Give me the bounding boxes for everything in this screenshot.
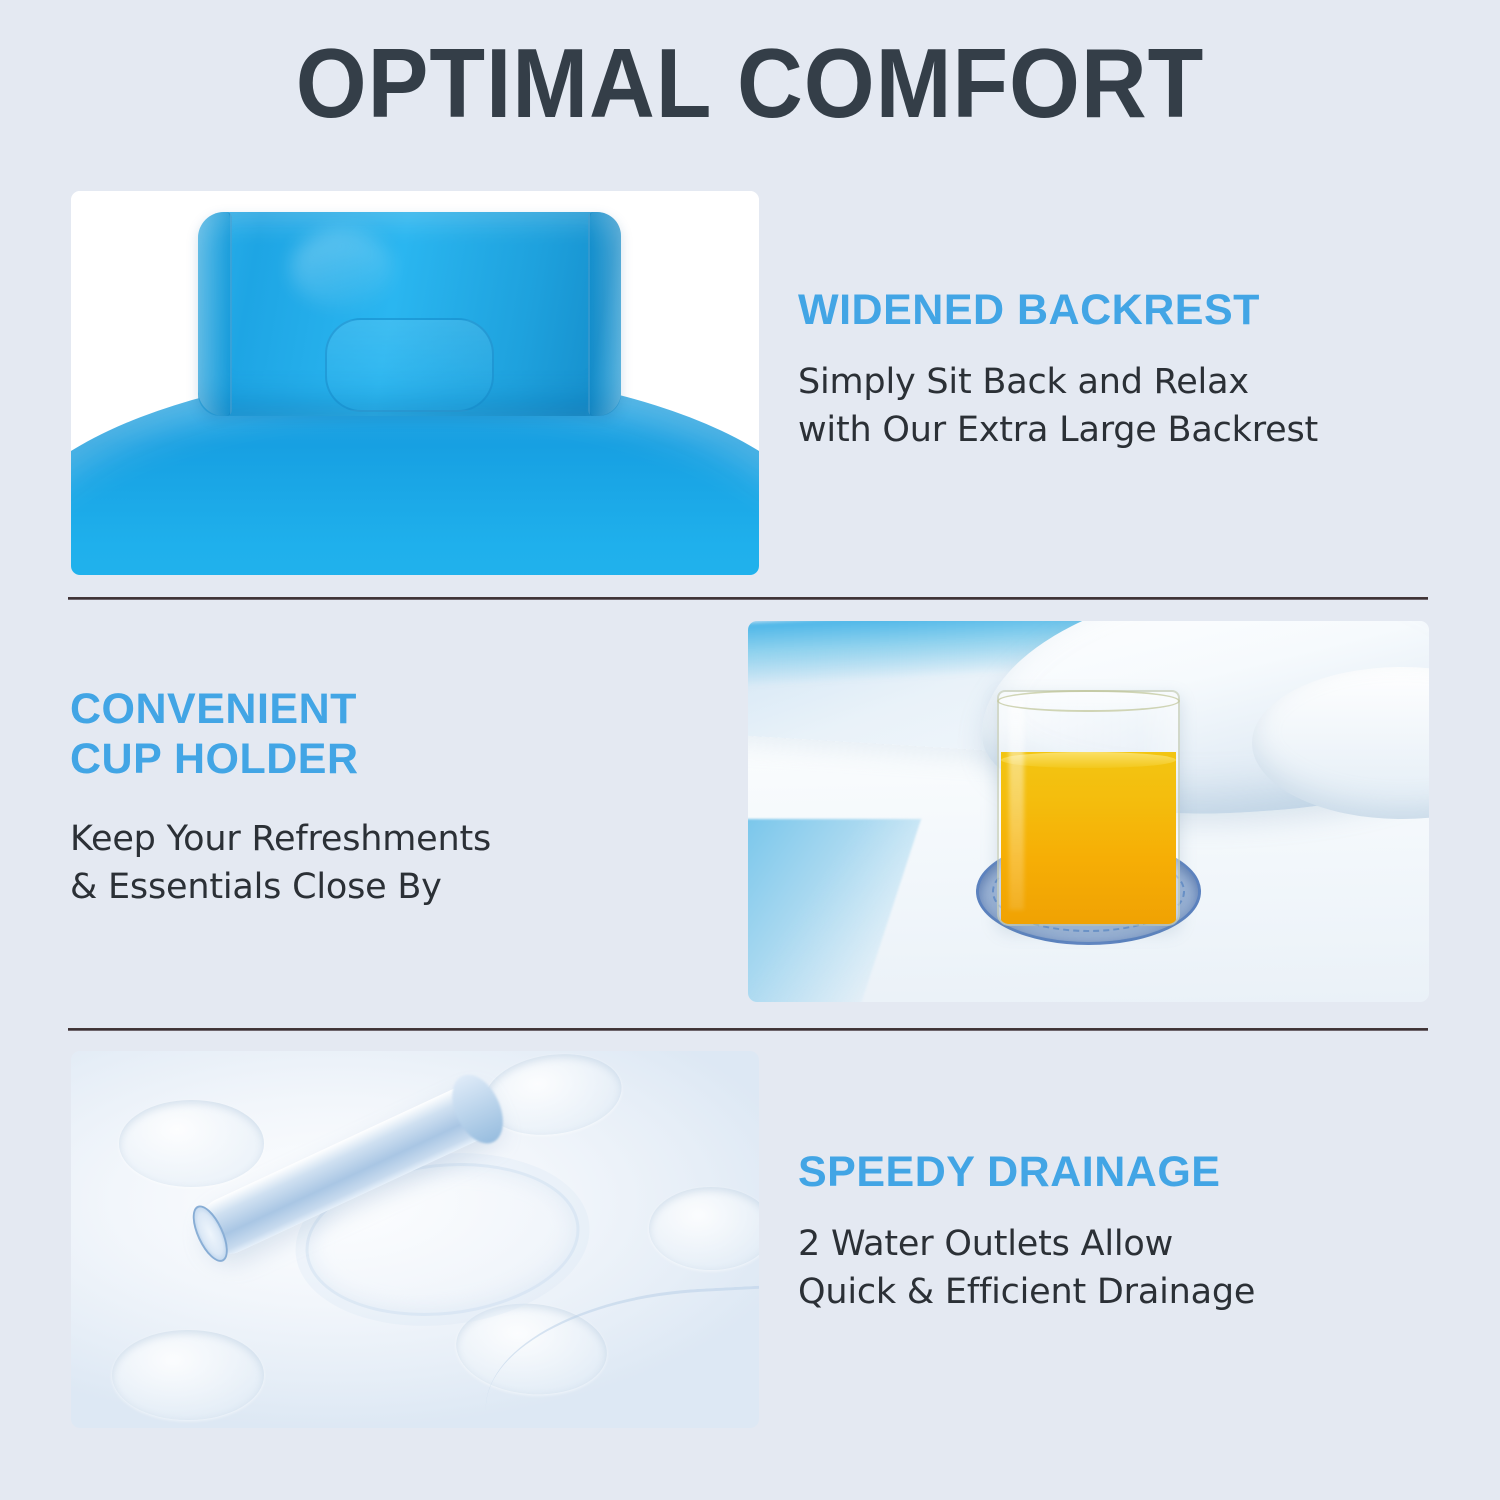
juice-glass xyxy=(997,690,1181,926)
glass-highlight xyxy=(1009,701,1023,910)
feature-image-speedy-drainage xyxy=(71,1051,759,1428)
feature-text-convenient-cup-holder: CONVENIENT CUP HOLDER Keep Your Refreshm… xyxy=(70,685,690,911)
feature-text-widened-backrest: WIDENED BACKREST Simply Sit Back and Rel… xyxy=(798,286,1418,454)
pillow-highlight xyxy=(291,230,393,307)
feature-body-speedy-drainage: 2 Water Outlets Allow Quick & Efficient … xyxy=(798,1220,1418,1317)
feature-text-speedy-drainage: SPEEDY DRAINAGE 2 Water Outlets Allow Qu… xyxy=(798,1148,1418,1316)
surface-dimple xyxy=(112,1330,263,1420)
inflatable-pillow xyxy=(198,212,621,416)
feature-heading-convenient-cup-holder: CONVENIENT CUP HOLDER xyxy=(70,685,690,785)
feature-image-widened-backrest xyxy=(71,191,759,575)
page-title: OPTIMAL COMFORT xyxy=(53,34,1448,132)
orange-juice-liquid xyxy=(1001,752,1177,924)
feature-body-widened-backrest: Simply Sit Back and Relax with Our Extra… xyxy=(798,358,1418,455)
feature-heading-widened-backrest: WIDENED BACKREST xyxy=(798,286,1418,336)
section-divider-1 xyxy=(68,597,1428,600)
feature-image-convenient-cup-holder xyxy=(748,621,1429,1002)
pillow-end-cap-right xyxy=(588,212,622,416)
surface-dimple xyxy=(649,1187,759,1270)
feature-body-convenient-cup-holder: Keep Your Refreshments & Essentials Clos… xyxy=(70,815,690,912)
pillow-embossed-panel xyxy=(325,318,494,412)
section-divider-2 xyxy=(68,1028,1428,1031)
feature-heading-speedy-drainage: SPEEDY DRAINAGE xyxy=(798,1148,1418,1198)
pillow-end-cap-left xyxy=(198,212,232,416)
surface-dimple xyxy=(119,1100,263,1187)
infographic-page: OPTIMAL COMFORT WIDENED BACKREST Simply … xyxy=(0,0,1500,1500)
